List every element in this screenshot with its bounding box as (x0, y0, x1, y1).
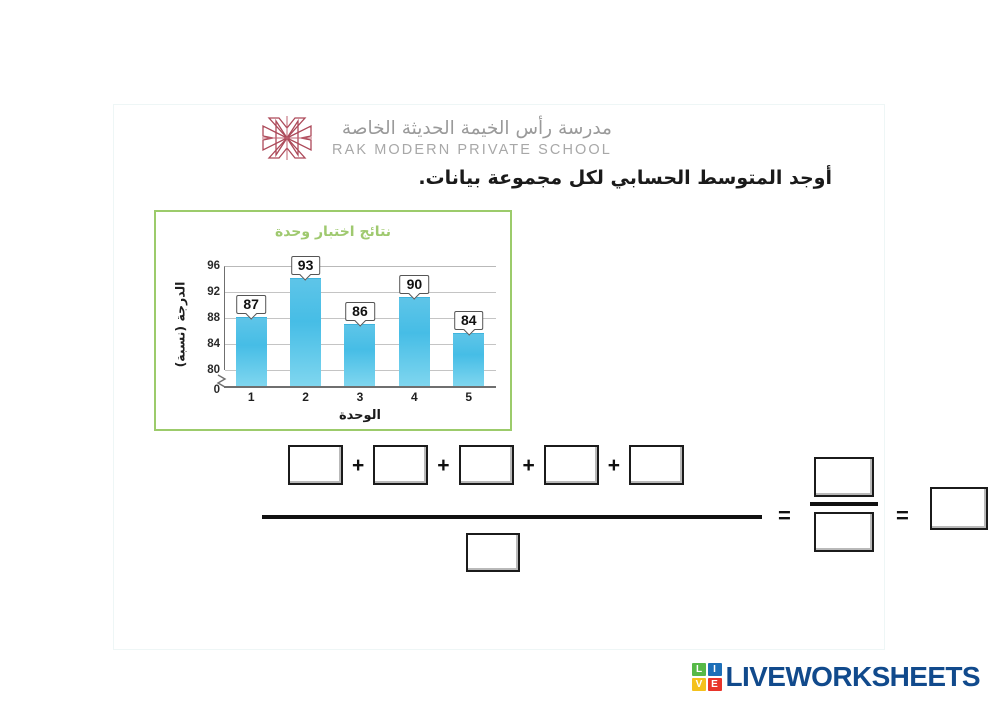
answer-box-addend-4[interactable] (544, 445, 599, 485)
equation-second-fraction (808, 457, 880, 552)
chart-title: نتائج اختبار وحدة (156, 224, 510, 240)
equals-sign-2: = (896, 503, 909, 529)
mean-equation: + + + + = = (144, 443, 856, 583)
fraction-bar-2 (810, 502, 878, 506)
bar-value-label-1: 87 (236, 295, 266, 314)
chart-y-axis-ticks: 96 92 88 84 80 0 (192, 266, 222, 386)
chart-x-axis-label: الوحدة (224, 408, 496, 423)
bar-1 (236, 317, 267, 386)
school-name-english: RAK MODERN PRIVATE SCHOOL (332, 142, 612, 158)
bar-value-label-5: 84 (454, 311, 484, 330)
answer-box-addend-2[interactable] (373, 445, 428, 485)
answer-box-fraction2-denominator[interactable] (814, 512, 874, 552)
equation-denominator (466, 533, 526, 572)
liveworksheets-logo-tiles: L I V E (692, 663, 722, 691)
logo-tile-i: I (708, 663, 722, 676)
bar-4 (399, 297, 430, 386)
answer-box-result[interactable] (930, 487, 988, 530)
bar-value-label-3: 86 (345, 302, 375, 321)
school-star-emblem-icon (256, 112, 318, 164)
equation-numerator: + + + + (288, 445, 758, 485)
bar-slot-4: 90 (395, 266, 433, 386)
answer-box-addend-5[interactable] (629, 445, 684, 485)
plus-sign-4: + (608, 455, 620, 476)
bar-slot-2: 93 (287, 266, 325, 386)
answer-box-addend-3[interactable] (459, 445, 514, 485)
y-tick-84: 84 (207, 338, 220, 350)
logo-tile-v: V (692, 678, 706, 691)
logo-tile-e: E (708, 678, 722, 691)
school-name-block: مدرسة رأس الخيمة الحديثة الخاصة RAK MODE… (332, 118, 612, 158)
bar-3 (344, 324, 375, 386)
worksheet-page: مدرسة رأس الخيمة الحديثة الخاصة RAK MODE… (113, 104, 885, 650)
bar-slot-3: 86 (341, 266, 379, 386)
y-tick-96: 96 (207, 260, 220, 272)
equation-result (930, 487, 988, 530)
x-tick-1: 1 (232, 390, 270, 404)
x-tick-2: 2 (287, 390, 325, 404)
x-tick-5: 5 (450, 390, 488, 404)
chart-y-axis-label: الدرجة (نسبة) (168, 268, 192, 380)
bar-chart-card: نتائج اختبار وحدة الدرجة (نسبة) 96 92 88… (154, 210, 512, 431)
y-tick-92: 92 (207, 286, 220, 298)
bar-slot-5: 84 (450, 266, 488, 386)
answer-box-denominator[interactable] (466, 533, 520, 572)
fraction-bar-1 (262, 515, 762, 519)
school-header: مدرسة رأس الخيمة الحديثة الخاصة RAK MODE… (256, 109, 816, 167)
x-tick-3: 3 (341, 390, 379, 404)
bar-slot-1: 87 (232, 266, 270, 386)
answer-box-fraction2-numerator[interactable] (814, 457, 874, 497)
plus-sign-2: + (437, 455, 449, 476)
chart-x-axis-ticks: 1 2 3 4 5 (224, 390, 496, 404)
chart-bars: 87 93 86 90 84 (224, 266, 496, 386)
y-tick-88: 88 (207, 312, 220, 324)
liveworksheets-logo: L I V E LIVEWORKSHEETS (692, 661, 980, 693)
answer-box-addend-1[interactable] (288, 445, 343, 485)
logo-tile-l: L (692, 663, 706, 676)
instruction-text: أوجد المتوسط الحسابي لكل مجموعة بيانات. (418, 167, 832, 189)
bar-value-label-2: 93 (291, 256, 321, 275)
chart-y-axis-label-text: الدرجة (نسبة) (173, 281, 188, 367)
plus-sign-1: + (352, 455, 364, 476)
chart-x-axis-line (224, 386, 496, 388)
plus-sign-3: + (523, 455, 535, 476)
liveworksheets-wordmark: LIVEWORKSHEETS (726, 661, 981, 693)
x-tick-4: 4 (395, 390, 433, 404)
bar-value-label-4: 90 (400, 275, 430, 294)
bar-5 (453, 333, 484, 386)
bar-2 (290, 278, 321, 386)
school-name-arabic: مدرسة رأس الخيمة الحديثة الخاصة (332, 118, 612, 139)
equals-sign-1: = (778, 503, 791, 529)
